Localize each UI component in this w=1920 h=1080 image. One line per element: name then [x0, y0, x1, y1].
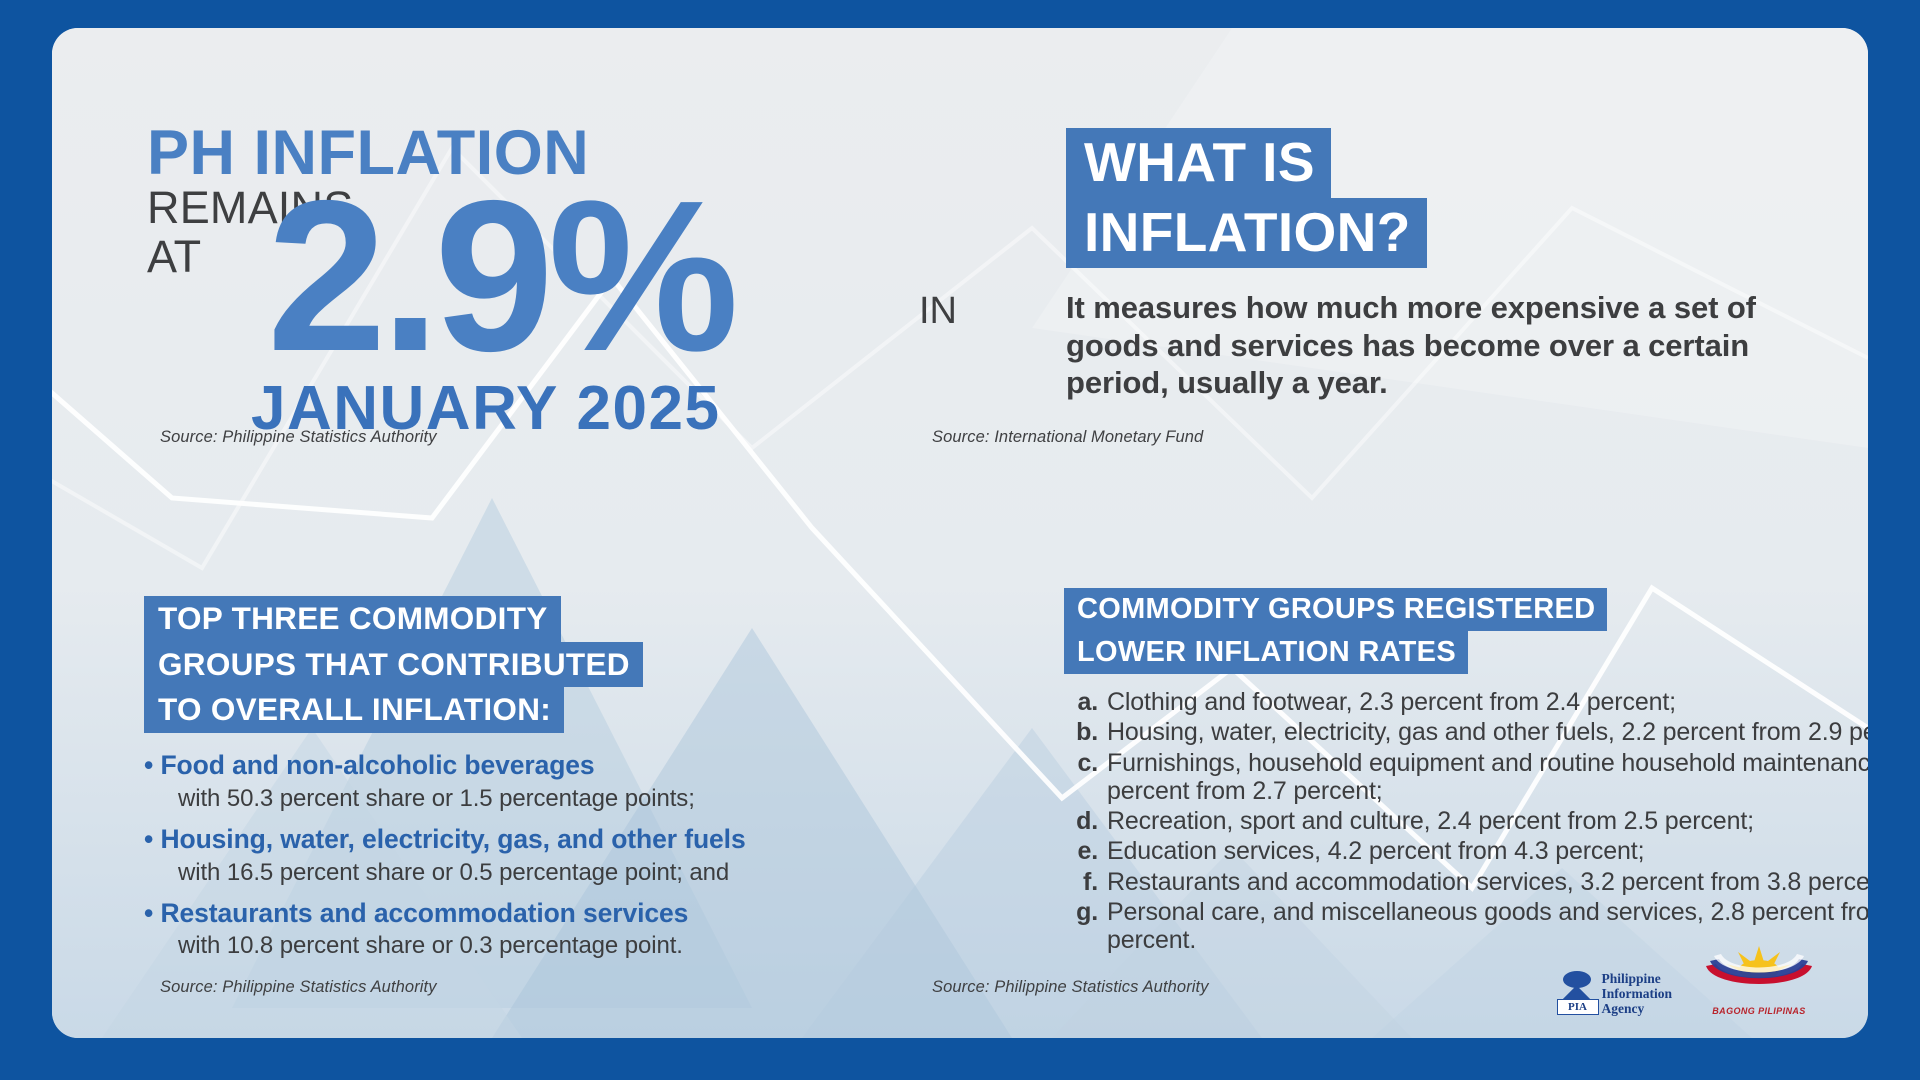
- list-item: • Housing, water, electricity, gas, and …: [144, 825, 984, 886]
- bullet-icon: •: [144, 750, 153, 780]
- top-contributors-source: Source: Philippine Statistics Authority: [160, 978, 437, 997]
- infographic-card: PH INFLATION REMAINS AT 2.9% IN JANUARY …: [52, 28, 1868, 1038]
- pia-abbrev-plate: PIA: [1557, 999, 1599, 1015]
- pia-abbrev: PIA: [1568, 1002, 1587, 1013]
- lower-rate-key-g: g.: [1064, 898, 1098, 926]
- what-is-inflation-block: WHAT IS INFLATION? It measures how much …: [1066, 128, 1766, 402]
- list-item: • Restaurants and accommodation services…: [144, 899, 984, 960]
- top-contributors-heading-line-2: GROUPS THAT CONTRIBUTED: [144, 642, 643, 688]
- lower-rates-heading: COMMODITY GROUPS REGISTERED LOWER INFLAT…: [1064, 588, 1868, 674]
- headline-at: AT: [147, 234, 201, 279]
- top-contributor-title-text-3: Restaurants and accommodation services: [160, 898, 688, 928]
- lower-rate-key-e: e.: [1064, 837, 1098, 865]
- bagong-pilipinas-logo: BAGONG PILIPINAS: [1698, 944, 1820, 1016]
- top-contributors-list: • Food and non-alcoholic beverages with …: [144, 751, 984, 959]
- top-contributor-detail-2: with 16.5 percent share or 0.5 percentag…: [144, 859, 984, 886]
- what-is-inflation-body: It measures how much more expensive a se…: [1066, 289, 1766, 402]
- lower-rate-key-d: d.: [1064, 807, 1098, 835]
- top-contributor-title-1: • Food and non-alcoholic beverages: [144, 751, 984, 781]
- top-contributor-title-text-1: Food and non-alcoholic beverages: [160, 750, 594, 780]
- top-contributors-heading: TOP THREE COMMODITY GROUPS THAT CONTRIBU…: [144, 596, 984, 733]
- lower-rates-source: Source: Philippine Statistics Authority: [932, 978, 1209, 997]
- lower-rate-key-c: c.: [1064, 749, 1098, 777]
- top-contributors-block: TOP THREE COMMODITY GROUPS THAT CONTRIBU…: [144, 596, 984, 972]
- list-item: e. Education services, 4.2 percent from …: [1064, 837, 1868, 865]
- top-contributor-detail-1: with 50.3 percent share or 1.5 percentag…: [144, 785, 984, 812]
- lower-rate-text-a: Clothing and footwear, 2.3 percent from …: [1107, 688, 1868, 716]
- lower-rate-text-d: Recreation, sport and culture, 2.4 perce…: [1107, 807, 1868, 835]
- list-item: • Food and non-alcoholic beverages with …: [144, 751, 984, 812]
- bagong-pilipinas-wordmark: BAGONG PILIPINAS: [1698, 1006, 1820, 1016]
- list-item: b. Housing, water, electricity, gas and …: [1064, 718, 1868, 746]
- lower-rates-heading-line-1: COMMODITY GROUPS REGISTERED: [1064, 588, 1607, 631]
- top-contributor-detail-3: with 10.8 percent share or 0.3 percentag…: [144, 932, 984, 959]
- infographic-root: PH INFLATION REMAINS AT 2.9% IN JANUARY …: [0, 0, 1920, 1080]
- top-contributors-heading-line-3: TO OVERALL INFLATION:: [144, 687, 564, 733]
- bullet-icon: •: [144, 824, 153, 854]
- pia-wordmark: Philippine Information Agency: [1602, 971, 1673, 1016]
- pia-mark-icon: PIA: [1557, 971, 1597, 1015]
- top-contributor-title-text-2: Housing, water, electricity, gas, and ot…: [160, 824, 745, 854]
- bagong-pilipinas-icon: [1698, 944, 1820, 1000]
- headline-value-row: AT 2.9% IN: [147, 230, 957, 390]
- what-is-inflation-title-line-2: INFLATION?: [1066, 198, 1427, 268]
- lower-rate-key-f: f.: [1064, 868, 1098, 896]
- list-item: f. Restaurants and accommodation service…: [1064, 868, 1868, 896]
- headline-in: IN: [919, 290, 957, 333]
- logo-row: PIA Philippine Information Agency: [1557, 944, 1821, 1016]
- lower-rate-key-a: a.: [1064, 688, 1098, 716]
- bullet-icon: •: [144, 898, 153, 928]
- headline-block: PH INFLATION REMAINS AT 2.9% IN JANUARY …: [147, 123, 957, 440]
- what-is-inflation-title-line-1: WHAT IS: [1066, 128, 1331, 198]
- pia-word-line-3: Agency: [1602, 1001, 1673, 1016]
- lower-rate-text-e: Education services, 4.2 percent from 4.3…: [1107, 837, 1868, 865]
- top-contributors-heading-line-1: TOP THREE COMMODITY: [144, 596, 561, 642]
- pia-word-line-1: Philippine: [1602, 971, 1673, 986]
- lower-rates-block: COMMODITY GROUPS REGISTERED LOWER INFLAT…: [1064, 588, 1868, 956]
- lower-rate-text-c: Furnishings, household equipment and rou…: [1107, 749, 1868, 806]
- list-item: a. Clothing and footwear, 2.3 percent fr…: [1064, 688, 1868, 716]
- headline-source: Source: Philippine Statistics Authority: [160, 428, 437, 447]
- top-contributor-title-3: • Restaurants and accommodation services: [144, 899, 984, 929]
- what-is-inflation-source: Source: International Monetary Fund: [932, 428, 1203, 447]
- top-contributor-title-2: • Housing, water, electricity, gas, and …: [144, 825, 984, 855]
- lower-rate-key-b: b.: [1064, 718, 1098, 746]
- list-item: c. Furnishings, household equipment and …: [1064, 749, 1868, 806]
- lower-rates-heading-line-2: LOWER INFLATION RATES: [1064, 631, 1468, 674]
- headline-inflation-value: 2.9%: [267, 168, 733, 383]
- pia-word-line-2: Information: [1602, 986, 1673, 1001]
- list-item: d. Recreation, sport and culture, 2.4 pe…: [1064, 807, 1868, 835]
- lower-rates-list: a. Clothing and footwear, 2.3 percent fr…: [1064, 688, 1868, 954]
- lower-rate-text-f: Restaurants and accommodation services, …: [1107, 868, 1868, 896]
- lower-rate-text-b: Housing, water, electricity, gas and oth…: [1107, 718, 1868, 746]
- pia-logo: PIA Philippine Information Agency: [1557, 971, 1673, 1016]
